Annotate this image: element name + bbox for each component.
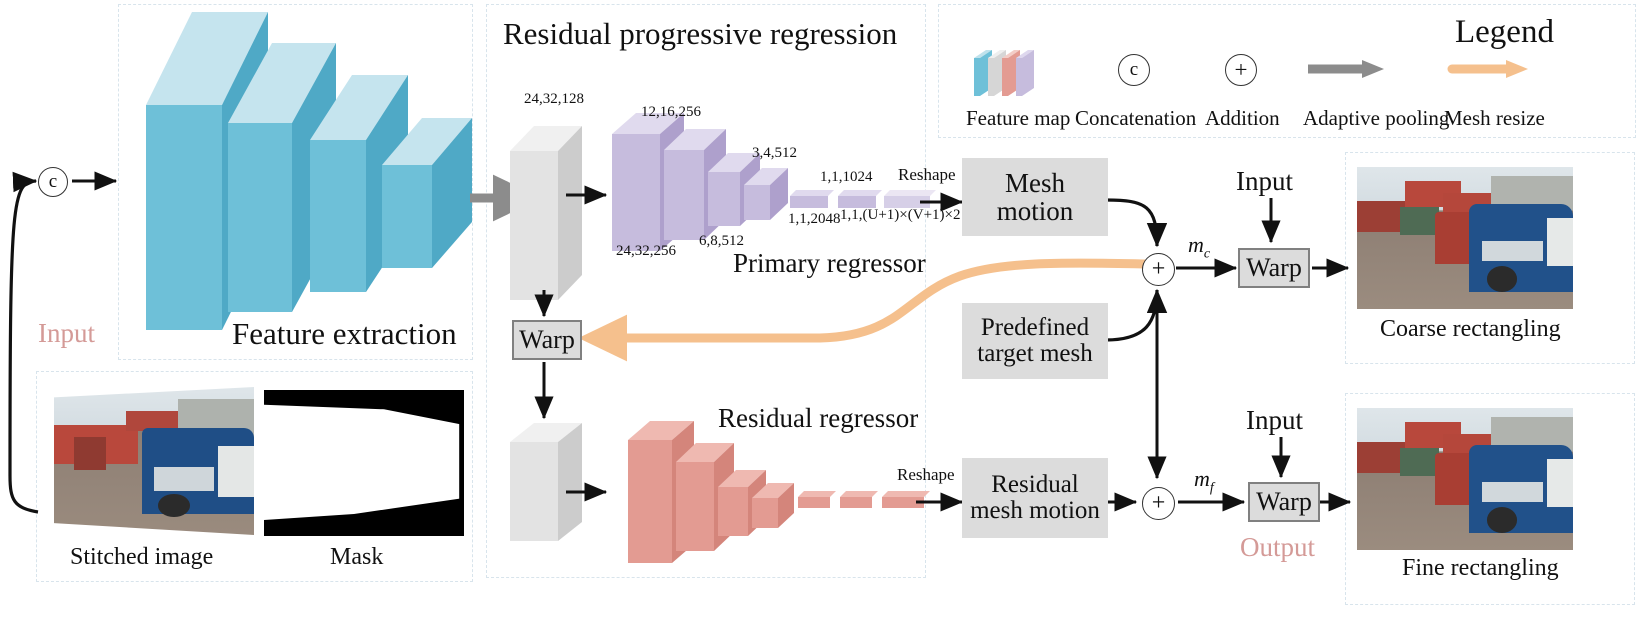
regression-panel-title: Residual progressive regression <box>503 18 897 49</box>
coarse-rectangling-image <box>1357 167 1573 309</box>
reshape-label-top: Reshape <box>898 166 956 183</box>
fine-rectangling-image <box>1357 408 1573 550</box>
figure-canvas: c + + Warp Mesh motion Predefined target… <box>0 0 1638 617</box>
dim-p4: 3,4,512 <box>752 146 797 161</box>
stitched-image-thumbnail <box>54 387 254 535</box>
feature-map-icon <box>968 44 1068 102</box>
residual-mesh-line2: mesh motion <box>970 498 1100 524</box>
predefined-line1: Predefined <box>981 315 1089 341</box>
add-glyph: + <box>1152 256 1166 283</box>
warp-label: Warp <box>519 326 575 353</box>
dim-p2: 12,16,256 <box>641 105 701 120</box>
residual-mesh-motion-box[interactable]: Residual mesh motion <box>962 458 1108 538</box>
legend-label-mesh-resize: Mesh resize <box>1444 108 1545 129</box>
residual-regressor-blocks <box>628 421 930 563</box>
stitched-image-caption: Stitched image <box>70 545 213 569</box>
legend-label-feature-map: Feature map <box>966 108 1070 129</box>
dim-p7: 1,1,(U+1)×(V+1)×2 <box>840 208 960 223</box>
input-to-concat-path <box>10 181 38 512</box>
warp-label: Warp <box>1256 488 1312 515</box>
residual-mesh-line1: Residual <box>991 472 1079 498</box>
fine-rectangling-caption: Fine rectangling <box>1402 556 1559 580</box>
feature-map-blocks <box>146 12 472 330</box>
mc-subscript: c <box>1204 246 1210 261</box>
legend-label-addition: Addition <box>1205 108 1280 129</box>
mf-label: mf <box>1194 468 1214 495</box>
mc-label: mc <box>1188 234 1210 261</box>
mf-symbol: m <box>1194 466 1210 491</box>
legend-title: Legend <box>1455 16 1554 49</box>
legend-label-concatenation: Concatenation <box>1075 108 1196 129</box>
add-glyph: + <box>1152 490 1166 517</box>
orange-arrow-icon <box>1452 58 1542 82</box>
addition-coarse-icon: + <box>1142 253 1175 286</box>
warp-label: Warp <box>1246 254 1302 281</box>
input-top-right-label: Input <box>1236 168 1293 195</box>
dim-p5: 1,1,2048 <box>788 212 841 227</box>
warp-box-fine[interactable]: Warp <box>1248 482 1320 522</box>
mf-subscript: f <box>1210 480 1214 495</box>
coarse-rectangling-caption: Coarse rectangling <box>1380 317 1561 341</box>
concatenation-icon: c <box>38 167 68 197</box>
mask-thumbnail <box>264 390 464 536</box>
predefined-line2: target mesh <box>977 341 1092 367</box>
dim-p1: 24,32,256 <box>616 244 676 259</box>
mesh-motion-box[interactable]: Mesh motion <box>962 158 1108 236</box>
add-glyph: + <box>1235 57 1248 83</box>
warp-box-coarse[interactable]: Warp <box>1238 248 1310 288</box>
reshape-label-bottom: Reshape <box>897 466 955 483</box>
dim-p6: 1,1,1024 <box>820 170 873 185</box>
mesh-motion-line2: motion <box>997 197 1074 225</box>
dim-p3: 6,8,512 <box>699 234 744 249</box>
input-left-label: Input <box>38 320 95 347</box>
concat-glyph: c <box>1130 59 1138 81</box>
primary-regressor-label: Primary regressor <box>733 250 926 277</box>
mesh-motion-line1: Mesh <box>1005 169 1065 197</box>
gray-arrow-icon <box>1308 58 1398 82</box>
predefined-mesh-to-plus-path <box>1106 290 1157 340</box>
warp-box-middle[interactable]: Warp <box>512 320 582 360</box>
dim-gray-primary: 24,32,128 <box>524 92 584 107</box>
addition-fine-icon: + <box>1142 487 1175 520</box>
residual-input-cube <box>510 423 582 541</box>
concat-glyph: c <box>49 171 57 193</box>
circle-c-icon: c <box>1118 54 1150 86</box>
input-bottom-right-label: Input <box>1246 407 1303 434</box>
predefined-target-mesh-box[interactable]: Predefined target mesh <box>962 303 1108 379</box>
mesh-motion-to-plus-path <box>1106 200 1157 246</box>
primary-input-cube <box>510 126 582 300</box>
output-label: Output <box>1240 534 1315 561</box>
mc-symbol: m <box>1188 232 1204 257</box>
legend-label-adaptive-pooling: Adaptive pooling <box>1303 108 1449 129</box>
primary-regressor-blocks <box>612 113 936 251</box>
circle-plus-icon: + <box>1225 54 1257 86</box>
feature-extraction-title: Feature extraction <box>232 318 457 349</box>
residual-regressor-label: Residual regressor <box>718 405 918 432</box>
mask-caption: Mask <box>330 545 383 569</box>
